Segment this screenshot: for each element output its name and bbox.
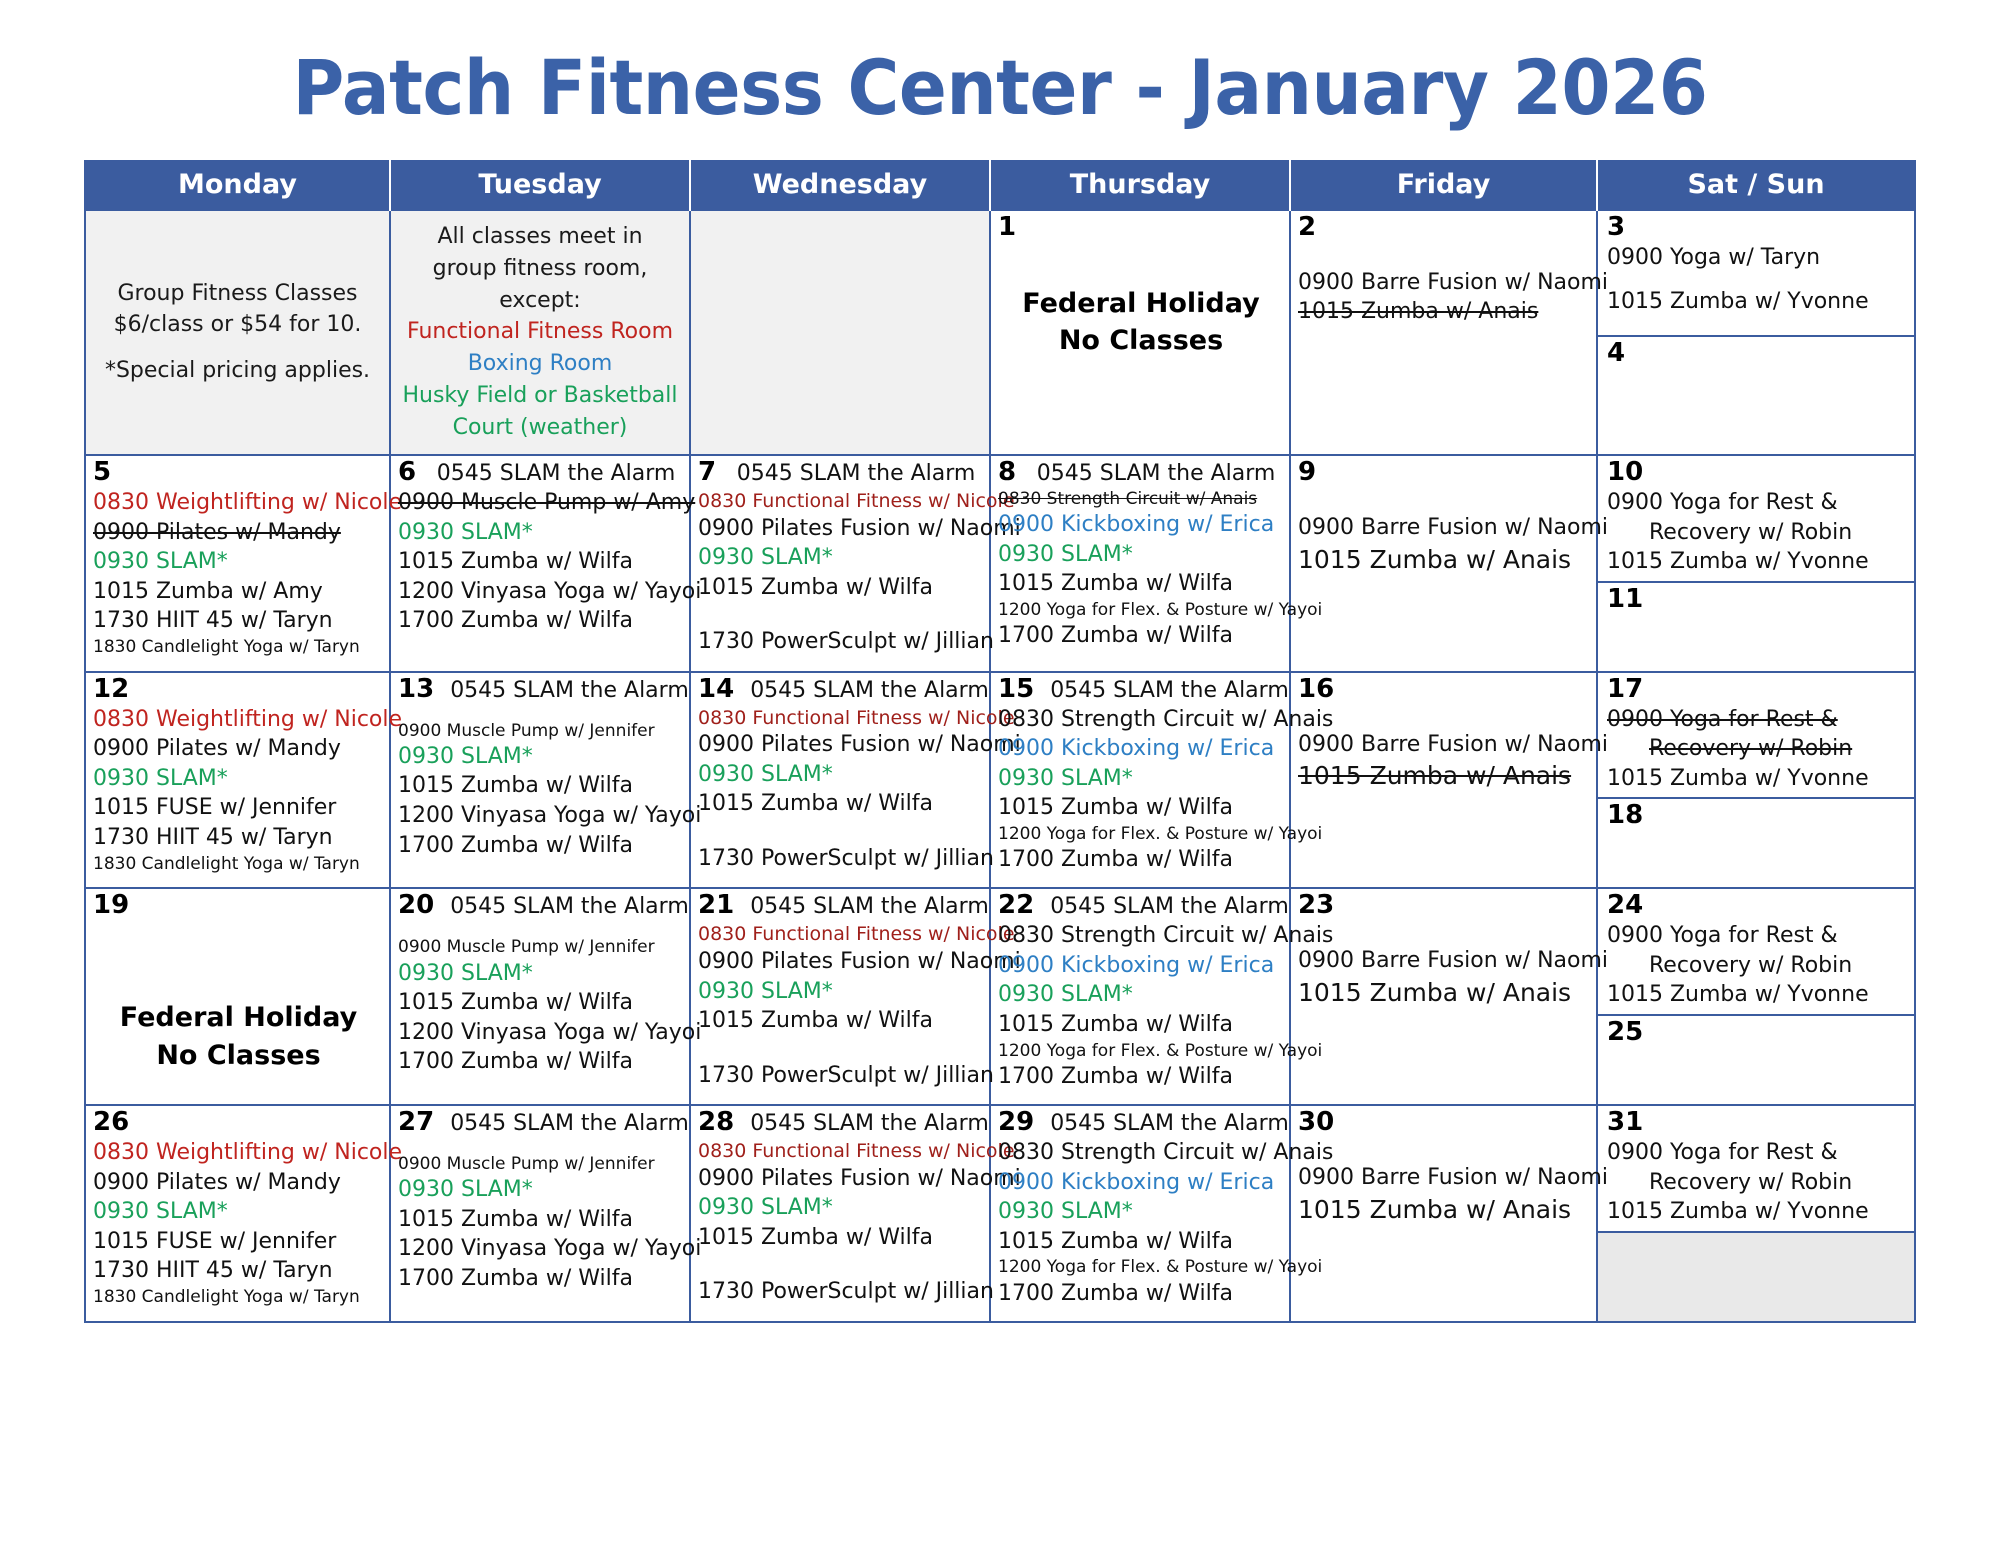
- event-item: 0830 Strength Circuit w/ Anais: [998, 706, 1284, 735]
- event-item-cancelled: 1015 Zumba w/ Anais: [1298, 298, 1591, 327]
- day-cell-6[interactable]: 6 0545 SLAM the Alarm 0900 Muscle Pump w…: [390, 455, 690, 672]
- column-header-thursday: Thursday: [990, 161, 1290, 210]
- event-item: 0900 Yoga for Rest &: [1607, 1139, 1908, 1168]
- event-item: 1015 Zumba w/ Wilfa: [398, 772, 684, 801]
- event-item: 1200 Vinyasa Yoga w/ Yayoi: [398, 802, 684, 831]
- event-item: 0930 SLAM*: [698, 761, 984, 790]
- event-item: 1015 Zumba w/ Wilfa: [698, 1224, 984, 1253]
- day-cell-28[interactable]: 28 0545 SLAM the Alarm 0830 Functional F…: [690, 1105, 990, 1322]
- event-item-cancelled: 1015 Zumba w/ Anais: [1298, 760, 1591, 793]
- day-cell-5[interactable]: 5 0830 Weightlifting w/ Nicole 0900 Pila…: [85, 455, 390, 672]
- legend-pricing-line1: Group Fitness Classes: [92, 278, 383, 310]
- event-item: 1015 Zumba w/ Anais: [1298, 977, 1591, 1010]
- event-item: 1015 Zumba w/ Amy: [93, 578, 384, 607]
- legend-room-husky-line2: Court (weather): [397, 412, 683, 444]
- event-item: 1730 HIIT 45 w/ Taryn: [93, 824, 384, 853]
- day-cell-1[interactable]: 1 Federal Holiday No Classes: [990, 210, 1290, 455]
- event-item: 1700 Zumba w/ Wilfa: [398, 1265, 684, 1294]
- holiday-line1: Federal Holiday: [93, 999, 384, 1037]
- day-number-30: 30: [1298, 1108, 1334, 1138]
- day-number-21: 21: [698, 891, 734, 921]
- day-number-1: 1: [998, 213, 1016, 243]
- event-item: 0900 Pilates Fusion w/ Naomi: [698, 1165, 984, 1194]
- day-number-3: 3: [1607, 213, 1625, 243]
- event-item: 0900 Barre Fusion w/ Naomi: [1298, 947, 1591, 976]
- event-item: 0545 SLAM the Alarm: [450, 894, 693, 919]
- event-item: 0900 Pilates w/ Mandy: [93, 1169, 384, 1198]
- weekend-cell-24-25[interactable]: 24 0900 Yoga for Rest & Recovery w/ Robi…: [1597, 888, 1915, 1105]
- column-header-satsun: Sat / Sun: [1597, 161, 1915, 210]
- day-number-28: 28: [698, 1108, 734, 1138]
- day-cell-19[interactable]: 19 Federal Holiday No Classes: [85, 888, 390, 1105]
- day-cell-14[interactable]: 14 0545 SLAM the Alarm 0830 Functional F…: [690, 672, 990, 889]
- event-item-cancelled: 0900 Muscle Pump w/ Amy: [398, 489, 684, 518]
- event-item: 0930 SLAM*: [93, 548, 384, 577]
- column-header-tuesday: Tuesday: [390, 161, 690, 210]
- event-item: 0930 SLAM*: [398, 519, 684, 548]
- event-item: 0900 Yoga w/ Taryn: [1607, 244, 1908, 273]
- day-cell-10[interactable]: 10 0900 Yoga for Rest & Recovery w/ Robi…: [1598, 456, 1914, 583]
- event-item: 1830 Candlelight Yoga w/ Taryn: [93, 637, 384, 658]
- event-item: 0900 Kickboxing w/ Erica: [998, 952, 1284, 981]
- event-item: 0830 Strength Circuit w/ Anais: [998, 922, 1284, 951]
- weekend-cell-17-18[interactable]: 17 0900 Yoga for Rest & Recovery w/ Robi…: [1597, 672, 1915, 889]
- column-header-friday: Friday: [1290, 161, 1597, 210]
- event-item: 1700 Zumba w/ Wilfa: [998, 1280, 1284, 1309]
- day-number-26: 26: [93, 1108, 129, 1138]
- day-number-17: 17: [1607, 675, 1643, 705]
- event-item: 0830 Weightlifting w/ Nicole: [93, 489, 384, 518]
- column-header-wednesday: Wednesday: [690, 161, 990, 210]
- event-item: 1015 FUSE w/ Jennifer: [93, 1228, 384, 1257]
- calendar-table: Monday Tuesday Wednesday Thursday Friday…: [84, 160, 1916, 1323]
- weekend-cell-31[interactable]: 31 0900 Yoga for Rest & Recovery w/ Robi…: [1597, 1105, 1915, 1322]
- event-item: 0930 SLAM*: [998, 541, 1284, 570]
- event-item: 1015 Zumba w/ Anais: [1298, 1194, 1591, 1227]
- day-number-5: 5: [93, 458, 111, 488]
- event-item: 1730 PowerSculpt w/ Jillian: [698, 628, 984, 657]
- event-item: 1730 PowerSculpt w/ Jillian: [698, 1062, 984, 1091]
- event-item: 0545 SLAM the Alarm: [750, 678, 993, 703]
- event-item: 0900 Barre Fusion w/ Naomi: [1298, 514, 1591, 543]
- day-number-6: 6: [398, 458, 416, 488]
- event-item: 0900 Barre Fusion w/ Naomi: [1298, 269, 1591, 298]
- day-cell-27[interactable]: 27 0545 SLAM the Alarm 0900 Muscle Pump …: [390, 1105, 690, 1322]
- day-cell-9[interactable]: 9 0900 Barre Fusion w/ Naomi 1015 Zumba …: [1290, 455, 1597, 672]
- event-item: 0930 SLAM*: [398, 1176, 684, 1205]
- day-cell-25[interactable]: 25: [1598, 1016, 1914, 1104]
- calendar-header-row: Monday Tuesday Wednesday Thursday Friday…: [85, 161, 1915, 210]
- event-item: 0830 Strength Circuit w/ Anais: [998, 1139, 1284, 1168]
- event-item-cancelled: 0900 Pilates w/ Mandy: [93, 519, 384, 548]
- event-item: 0830 Weightlifting w/ Nicole: [93, 1139, 384, 1168]
- day-number-20: 20: [398, 891, 434, 921]
- page-title: Patch Fitness Center - January 2026: [70, 0, 1930, 138]
- holiday-line2: No Classes: [93, 1037, 384, 1075]
- day-number-16: 16: [1298, 675, 1334, 705]
- legend-room-husky-line1: Husky Field or Basketball: [397, 380, 683, 412]
- event-item: 0930 SLAM*: [698, 544, 984, 573]
- event-item: 1700 Zumba w/ Wilfa: [998, 846, 1284, 875]
- event-item: 0930 SLAM*: [998, 981, 1284, 1010]
- day-cell-26[interactable]: 26 0830 Weightlifting w/ Nicole 0900 Pil…: [85, 1105, 390, 1322]
- holiday-notice-19: Federal Holiday No Classes: [93, 999, 384, 1075]
- day-cell-17[interactable]: 17 0900 Yoga for Rest & Recovery w/ Robi…: [1598, 673, 1914, 800]
- event-item: 0900 Pilates Fusion w/ Naomi: [698, 731, 984, 760]
- event-item: 1015 Zumba w/ Yvonne: [1607, 1198, 1908, 1227]
- day-cell-2[interactable]: 2 0900 Barre Fusion w/ Naomi 1015 Zumba …: [1290, 210, 1597, 455]
- day-number-18: 18: [1607, 801, 1643, 831]
- event-item: 0930 SLAM*: [698, 1194, 984, 1223]
- event-item: 1200 Vinyasa Yoga w/ Yayoi: [398, 1235, 684, 1264]
- event-item: 0545 SLAM the Alarm: [1050, 678, 1293, 703]
- event-item: 1015 Zumba w/ Yvonne: [1607, 288, 1908, 317]
- holiday-line1: Federal Holiday: [998, 285, 1284, 323]
- event-item: 1015 FUSE w/ Jennifer: [93, 794, 384, 823]
- holiday-line2: No Classes: [998, 322, 1284, 360]
- event-item: 1730 PowerSculpt w/ Jillian: [698, 845, 984, 874]
- holiday-notice-1: Federal Holiday No Classes: [998, 285, 1284, 361]
- day-number-13: 13: [398, 675, 434, 705]
- event-item: 1830 Candlelight Yoga w/ Taryn: [93, 1287, 384, 1308]
- empty-day-cell-trailing: [1598, 1233, 1914, 1321]
- day-cell-3[interactable]: 3 0900 Yoga w/ Taryn 1015 Zumba w/ Yvonn…: [1598, 211, 1914, 337]
- legend-room-boxing: Boxing Room: [397, 348, 683, 380]
- event-item: 0900 Yoga for Rest &: [1607, 922, 1908, 951]
- event-item: 1015 Zumba w/ Yvonne: [1607, 765, 1908, 794]
- event-item: 1015 Zumba w/ Wilfa: [998, 570, 1284, 599]
- day-cell-22[interactable]: 22 0545 SLAM the Alarm 0830 Strength Cir…: [990, 888, 1290, 1105]
- week-row-3: 12 0830 Weightlifting w/ Nicole 0900 Pil…: [85, 672, 1915, 889]
- event-item: 0930 SLAM*: [998, 1198, 1284, 1227]
- week-row-5: 26 0830 Weightlifting w/ Nicole 0900 Pil…: [85, 1105, 1915, 1322]
- legend-rooms-line2: group fitness room, except:: [397, 253, 683, 317]
- event-item: 0930 SLAM*: [398, 743, 684, 772]
- event-item: 0930 SLAM*: [698, 978, 984, 1007]
- event-item: 0830 Weightlifting w/ Nicole: [93, 706, 384, 735]
- day-cell-15[interactable]: 15 0545 SLAM the Alarm 0830 Strength Cir…: [990, 672, 1290, 889]
- event-item: 1015 Zumba w/ Wilfa: [398, 989, 684, 1018]
- event-item: 0830 Functional Fitness w/ Nicole: [698, 489, 984, 514]
- day-number-24: 24: [1607, 891, 1643, 921]
- event-item: 0900 Muscle Pump w/ Jennifer: [398, 937, 684, 958]
- event-item: 1700 Zumba w/ Wilfa: [398, 1048, 684, 1077]
- day-number-14: 14: [698, 675, 734, 705]
- event-item: 1200 Yoga for Flex. & Posture w/ Yayoi: [998, 1257, 1284, 1278]
- event-item: 1730 HIIT 45 w/ Taryn: [93, 1257, 384, 1286]
- event-item: 1015 Zumba w/ Wilfa: [998, 1011, 1284, 1040]
- legend-rooms-line1: All classes meet in: [397, 221, 683, 253]
- event-item: 0545 SLAM the Alarm: [1050, 1111, 1293, 1136]
- event-item: 0900 Pilates w/ Mandy: [93, 735, 384, 764]
- day-number-7: 7: [698, 458, 716, 488]
- day-cell-11[interactable]: 11: [1598, 583, 1914, 671]
- event-item: 1700 Zumba w/ Wilfa: [398, 607, 684, 636]
- day-cell-31[interactable]: 31 0900 Yoga for Rest & Recovery w/ Robi…: [1598, 1106, 1914, 1233]
- week-row-1: Group Fitness Classes $6/class or $54 fo…: [85, 210, 1915, 455]
- weekend-cell-3-4[interactable]: 3 0900 Yoga w/ Taryn 1015 Zumba w/ Yvonn…: [1597, 210, 1915, 455]
- event-item: 0545 SLAM the Alarm: [732, 461, 984, 486]
- event-item: 1015 Zumba w/ Wilfa: [698, 574, 984, 603]
- event-item: 0545 SLAM the Alarm: [432, 461, 684, 486]
- event-item: 0900 Barre Fusion w/ Naomi: [1298, 731, 1591, 760]
- day-number-27: 27: [398, 1108, 434, 1138]
- day-cell-21[interactable]: 21 0545 SLAM the Alarm 0830 Functional F…: [690, 888, 990, 1105]
- day-number-15: 15: [998, 675, 1034, 705]
- weekend-cell-10-11[interactable]: 10 0900 Yoga for Rest & Recovery w/ Robi…: [1597, 455, 1915, 672]
- event-item: 0545 SLAM the Alarm: [450, 1111, 693, 1136]
- day-number-2: 2: [1298, 213, 1316, 243]
- day-cell-23[interactable]: 23 0900 Barre Fusion w/ Naomi 1015 Zumba…: [1290, 888, 1597, 1105]
- event-item: 1015 Zumba w/ Wilfa: [398, 548, 684, 577]
- day-cell-7[interactable]: 7 0545 SLAM the Alarm 0830 Functional Fi…: [690, 455, 990, 672]
- day-cell-8[interactable]: 8 0545 SLAM the Alarm 0830 Strength Circ…: [990, 455, 1290, 672]
- day-cell-13[interactable]: 13 0545 SLAM the Alarm 0900 Muscle Pump …: [390, 672, 690, 889]
- day-cell-20[interactable]: 20 0545 SLAM the Alarm 0900 Muscle Pump …: [390, 888, 690, 1105]
- week-row-4: 19 Federal Holiday No Classes 20 0545 SL…: [85, 888, 1915, 1105]
- legend-pricing-line2: $6/class or $54 for 10.: [92, 309, 383, 341]
- day-cell-12[interactable]: 12 0830 Weightlifting w/ Nicole 0900 Pil…: [85, 672, 390, 889]
- event-item: 1200 Yoga for Flex. & Posture w/ Yayoi: [998, 600, 1284, 621]
- event-item: 1015 Zumba w/ Anais: [1298, 544, 1591, 577]
- day-number-8: 8: [998, 458, 1016, 488]
- day-number-12: 12: [93, 675, 129, 705]
- event-item: Recovery w/ Robin: [1607, 519, 1908, 548]
- event-item: 0900 Yoga for Rest &: [1607, 489, 1908, 518]
- event-item: 0545 SLAM the Alarm: [1050, 894, 1293, 919]
- event-item: 1015 Zumba w/ Wilfa: [998, 1228, 1284, 1257]
- event-item: 0900 Pilates Fusion w/ Naomi: [698, 515, 984, 544]
- day-number-23: 23: [1298, 891, 1334, 921]
- event-item: 1200 Vinyasa Yoga w/ Yayoi: [398, 1019, 684, 1048]
- event-item: 0545 SLAM the Alarm: [750, 894, 993, 919]
- calendar-page: Patch Fitness Center - January 2026 Mond…: [0, 0, 2000, 1545]
- day-cell-16[interactable]: 16 0900 Barre Fusion w/ Naomi 1015 Zumba…: [1290, 672, 1597, 889]
- event-item: 1200 Vinyasa Yoga w/ Yayoi: [398, 578, 684, 607]
- event-item: 0930 SLAM*: [398, 960, 684, 989]
- legend-pricing-cell: Group Fitness Classes $6/class or $54 fo…: [85, 210, 390, 455]
- event-item: 0900 Pilates Fusion w/ Naomi: [698, 948, 984, 977]
- event-item: 0900 Muscle Pump w/ Jennifer: [398, 1154, 684, 1175]
- day-cell-30[interactable]: 30 0900 Barre Fusion w/ Naomi 1015 Zumba…: [1290, 1105, 1597, 1322]
- day-number-9: 9: [1298, 458, 1316, 488]
- event-item: 1015 Zumba w/ Yvonne: [1607, 548, 1908, 577]
- day-number-4: 4: [1607, 339, 1625, 369]
- event-item: 1730 HIIT 45 w/ Taryn: [93, 607, 384, 636]
- day-number-25: 25: [1607, 1018, 1643, 1048]
- day-number-10: 10: [1607, 458, 1643, 488]
- legend-pricing-line3: *Special pricing applies.: [92, 355, 383, 387]
- event-item: 1015 Zumba w/ Wilfa: [698, 790, 984, 819]
- event-item: 0900 Barre Fusion w/ Naomi: [1298, 1164, 1591, 1193]
- event-item-cancelled: 0900 Yoga for Rest &: [1607, 706, 1908, 735]
- week-row-2: 5 0830 Weightlifting w/ Nicole 0900 Pila…: [85, 455, 1915, 672]
- event-item: 1015 Zumba w/ Wilfa: [998, 794, 1284, 823]
- day-number-22: 22: [998, 891, 1034, 921]
- event-item: 0930 SLAM*: [93, 765, 384, 794]
- day-number-29: 29: [998, 1108, 1034, 1138]
- event-item: 1700 Zumba w/ Wilfa: [398, 832, 684, 861]
- event-item: 1015 Zumba w/ Yvonne: [1607, 981, 1908, 1010]
- event-item: Recovery w/ Robin: [1607, 1169, 1908, 1198]
- event-item: 0830 Functional Fitness w/ Nicole: [698, 922, 984, 947]
- day-cell-4[interactable]: 4: [1598, 337, 1914, 425]
- event-item: 0930 SLAM*: [93, 1198, 384, 1227]
- event-item: 0900 Muscle Pump w/ Jennifer: [398, 721, 684, 742]
- event-item: 0545 SLAM the Alarm: [750, 1111, 993, 1136]
- legend-room-functional: Functional Fitness Room: [397, 316, 683, 348]
- event-item: 1830 Candlelight Yoga w/ Taryn: [93, 854, 384, 875]
- day-number-31: 31: [1607, 1108, 1643, 1138]
- event-item: 1730 PowerSculpt w/ Jillian: [698, 1278, 984, 1307]
- event-item: 0545 SLAM the Alarm: [450, 678, 693, 703]
- event-item: 0830 Functional Fitness w/ Nicole: [698, 706, 984, 731]
- event-item: 0830 Functional Fitness w/ Nicole: [698, 1139, 984, 1164]
- day-number-11: 11: [1607, 585, 1643, 615]
- event-item: 0900 Kickboxing w/ Erica: [998, 1169, 1284, 1198]
- event-item: 0900 Kickboxing w/ Erica: [998, 735, 1284, 764]
- event-item: 1200 Yoga for Flex. & Posture w/ Yayoi: [998, 1041, 1284, 1062]
- legend-rooms-cell: All classes meet in group fitness room, …: [390, 210, 690, 455]
- event-item: 1700 Zumba w/ Wilfa: [998, 1063, 1284, 1092]
- event-item: Recovery w/ Robin: [1607, 952, 1908, 981]
- day-cell-29[interactable]: 29 0545 SLAM the Alarm 0830 Strength Cir…: [990, 1105, 1290, 1322]
- event-item: 1700 Zumba w/ Wilfa: [998, 622, 1284, 651]
- empty-day-cell-wed-week1: [690, 210, 990, 455]
- event-item: 1015 Zumba w/ Wilfa: [398, 1206, 684, 1235]
- day-cell-18[interactable]: 18: [1598, 799, 1914, 887]
- event-item: 0900 Kickboxing w/ Erica: [998, 511, 1284, 540]
- day-number-19: 19: [93, 891, 129, 921]
- event-item-cancelled: Recovery w/ Robin: [1607, 735, 1908, 764]
- day-cell-24[interactable]: 24 0900 Yoga for Rest & Recovery w/ Robi…: [1598, 889, 1914, 1016]
- event-item-cancelled: 0830 Strength Circuit w/ Anais: [998, 489, 1284, 510]
- event-item: 1200 Yoga for Flex. & Posture w/ Yayoi: [998, 824, 1284, 845]
- event-item: 0930 SLAM*: [998, 765, 1284, 794]
- event-item: 0545 SLAM the Alarm: [1032, 461, 1284, 486]
- column-header-monday: Monday: [85, 161, 390, 210]
- event-item: 1015 Zumba w/ Wilfa: [698, 1007, 984, 1036]
